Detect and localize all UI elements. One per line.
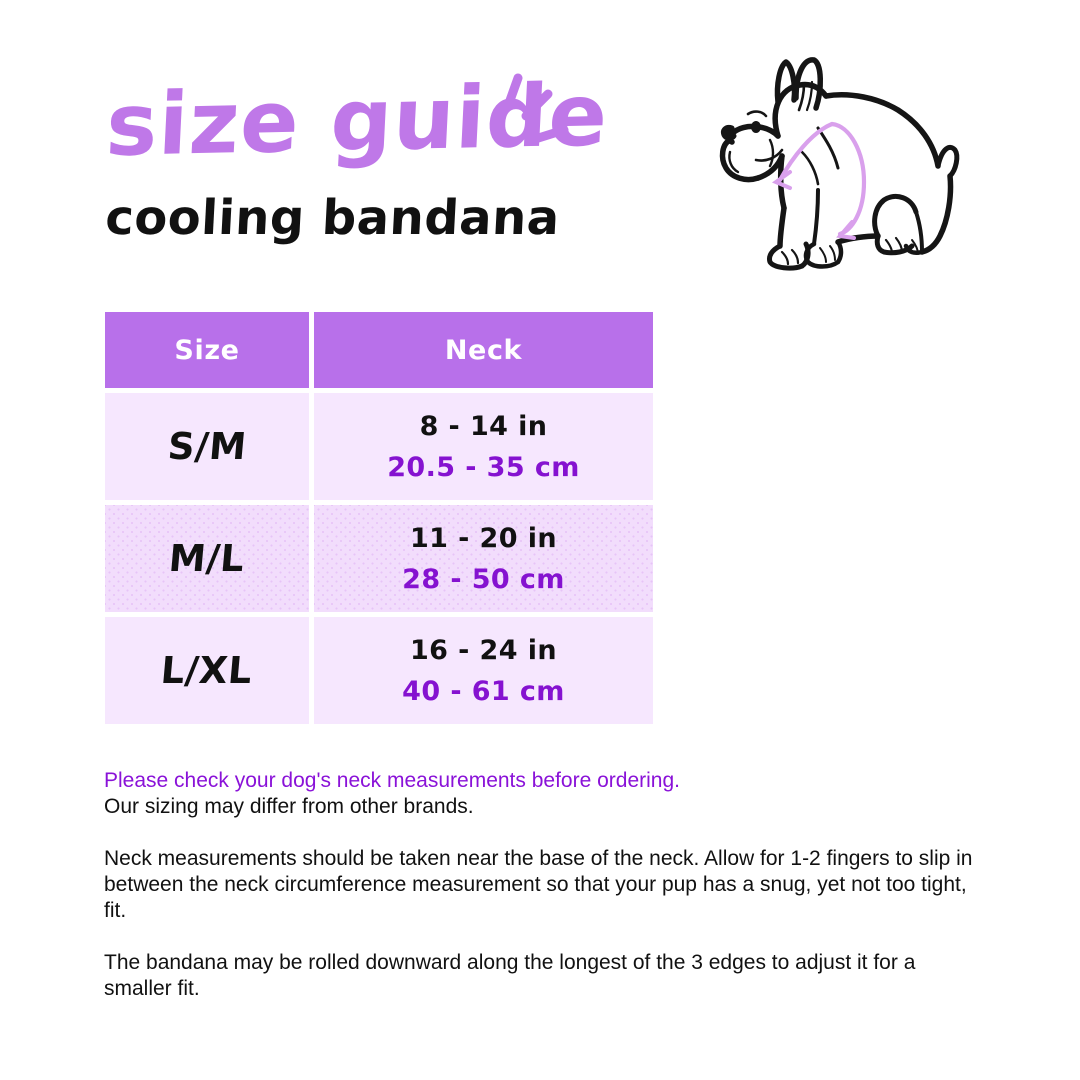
note-accent-line: Please check your dog's neck measurement… [104, 768, 976, 794]
table-row: L/XL 16 - 24 in 40 - 61 cm [105, 617, 653, 724]
neck-cell: 8 - 14 in 20.5 - 35 cm [314, 393, 653, 500]
neck-inches: 16 - 24 in [314, 630, 653, 671]
column-header-neck: Neck [314, 312, 653, 388]
neck-centimeters: 20.5 - 35 cm [314, 447, 653, 488]
size-cell: S/M [105, 393, 309, 500]
size-chart-table: Size Neck S/M 8 - 14 in 20.5 - 35 cm M/L… [100, 307, 658, 729]
page-title: size guide [104, 67, 629, 174]
note-spacer [104, 820, 976, 846]
french-bulldog-icon [700, 40, 980, 290]
size-cell: M/L [105, 505, 309, 612]
neck-inches: 8 - 14 in [314, 406, 653, 447]
neck-centimeters: 40 - 61 cm [314, 671, 653, 712]
size-cell: L/XL [105, 617, 309, 724]
size-label: S/M [166, 425, 248, 468]
table-header-row: Size Neck [105, 312, 653, 388]
neck-cell: 16 - 24 in 40 - 61 cm [314, 617, 653, 724]
column-header-size: Size [105, 312, 309, 388]
neck-inches: 11 - 20 in [314, 518, 653, 559]
header-block: size guide cooling bandana [104, 78, 624, 246]
table-row: M/L 11 - 20 in 28 - 50 cm [105, 505, 653, 612]
neck-cell: 11 - 20 in 28 - 50 cm [314, 505, 653, 612]
note-spacer [104, 924, 976, 950]
notes-block: Please check your dog's neck measurement… [104, 768, 976, 1002]
size-label: L/XL [160, 649, 255, 692]
neck-centimeters: 28 - 50 cm [314, 559, 653, 600]
note-paragraph-rolling: The bandana may be rolled downward along… [104, 950, 976, 1002]
size-label: M/L [167, 537, 246, 580]
page-subtitle: cooling bandana [104, 190, 627, 246]
note-secondary-line: Our sizing may differ from other brands. [104, 794, 976, 820]
neck-measurement-loop-icon [776, 124, 864, 238]
table-row: S/M 8 - 14 in 20.5 - 35 cm [105, 393, 653, 500]
title-row: size guide [104, 78, 624, 186]
note-paragraph-measuring: Neck measurements should be taken near t… [104, 846, 976, 924]
